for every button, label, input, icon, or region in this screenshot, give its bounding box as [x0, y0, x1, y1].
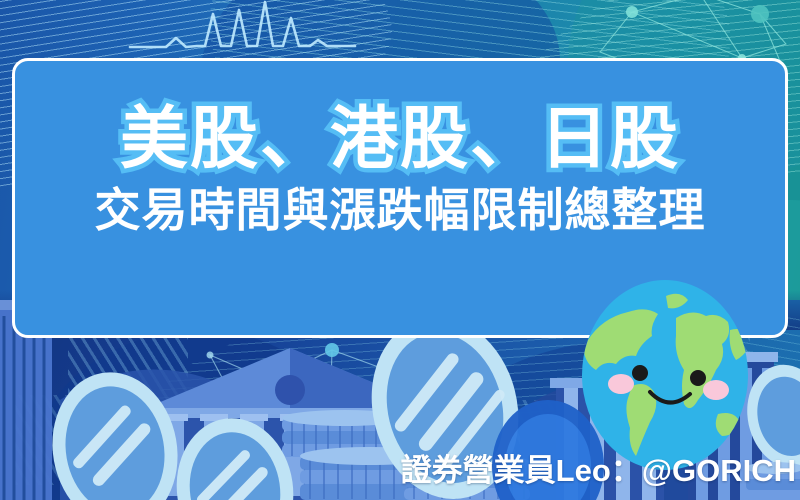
- page-title: 美股、港股、日股: [15, 103, 785, 175]
- globe-left-cheek: [608, 374, 634, 394]
- globe-left-eye: [632, 365, 648, 381]
- author-handle: 證券營業員Leo：@GORICH: [0, 445, 796, 490]
- page-subtitle: 交易時間與漲跌幅限制總整理: [15, 185, 785, 236]
- poster-canvas: 美股、港股、日股 交易時間與漲跌幅限制總整理: [0, 0, 800, 500]
- title-stack: 美股、港股、日股 交易時間與漲跌幅限制總整理: [15, 103, 785, 236]
- globe-right-cheek: [703, 380, 729, 400]
- smiling-earth-globe-icon: [580, 278, 750, 473]
- globe-right-eye: [690, 370, 706, 386]
